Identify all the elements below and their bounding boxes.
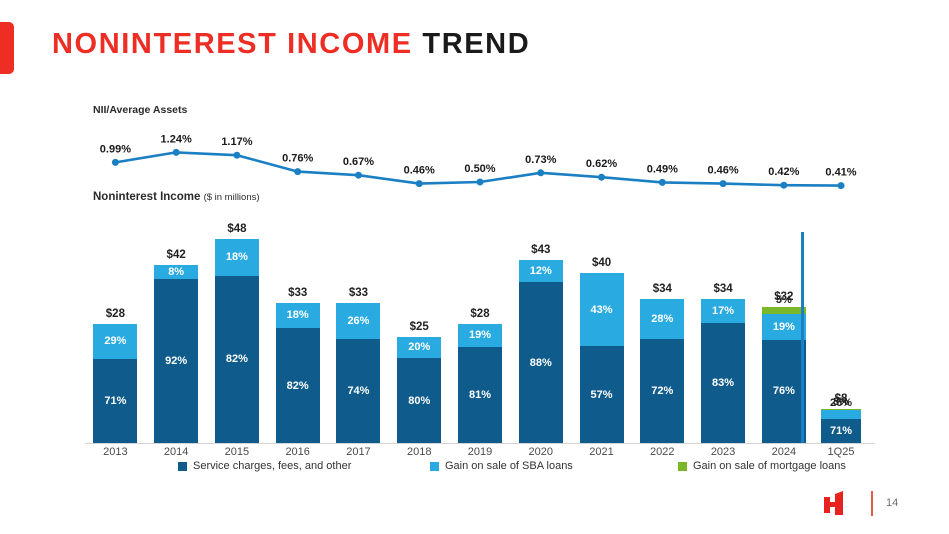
x-axis-tick-2021: 2021	[572, 446, 632, 458]
page-number: 14	[886, 497, 898, 509]
title-accent-bar	[0, 22, 14, 74]
legend-label: Gain on sale of SBA loans	[445, 460, 573, 472]
bar-segment-label: 82%	[287, 380, 309, 392]
bar-segment-label: 76%	[773, 385, 795, 397]
noninterest-income-bar-chart: $2829%71%$428%92%$4818%82%$3318%82%$3326…	[85, 215, 875, 443]
bar-segment: 18%	[276, 303, 320, 328]
bar-segment-label: 18%	[226, 251, 248, 263]
footer-separator	[871, 491, 873, 516]
legend-label: Service charges, fees, and other	[193, 460, 351, 472]
legend-item: Gain on sale of SBA loans	[430, 460, 573, 472]
page-title-primary: NONINTEREST INCOME	[52, 28, 413, 60]
legend-label: Gain on sale of mortgage loans	[693, 460, 846, 472]
line-data-point	[294, 168, 301, 175]
bar-segment-label: 29%	[104, 335, 126, 347]
bar-segment: 26%	[336, 303, 380, 339]
bar-column: $3326%74%	[336, 303, 380, 443]
bar-segment: 17%	[701, 299, 745, 324]
bar-segment: 81%	[458, 347, 502, 443]
bar-segment-label: 20%	[408, 341, 430, 353]
line-data-point	[112, 159, 119, 166]
bar-segment: 71%	[93, 359, 137, 443]
line-data-point	[416, 180, 423, 187]
line-data-point	[233, 152, 240, 159]
bar-column: $2819%81%	[458, 324, 502, 443]
bar-segment: 20%	[397, 337, 441, 358]
bar-column: $4043%57%	[580, 273, 624, 443]
line-data-point	[659, 179, 666, 186]
bar-segment-label: 83%	[712, 377, 734, 389]
bar-segment-label: 57%	[591, 389, 613, 401]
legend-swatch-icon	[178, 462, 187, 471]
bar-total-label: $43	[531, 244, 550, 256]
bar-total-label: $33	[349, 287, 368, 299]
line-point-label: 1.17%	[221, 136, 252, 148]
chart-legend: Service charges, fees, and otherGain on …	[178, 460, 798, 478]
bar-segment-label: 72%	[651, 385, 673, 397]
bar-segment-label: 82%	[226, 353, 248, 365]
bar-segment-label: 12%	[530, 265, 552, 277]
bar-segment-label: 74%	[347, 385, 369, 397]
bar-column: $3318%82%	[276, 303, 320, 443]
bar-segment: 19%	[458, 324, 502, 347]
bar-column: $4312%88%	[519, 260, 563, 443]
bar-total-label: $34	[713, 283, 732, 295]
line-data-point	[477, 179, 484, 186]
bar-column: $3417%83%	[701, 299, 745, 444]
bar-total-label: $25	[410, 321, 429, 333]
bar-total-label: $48	[227, 223, 246, 235]
x-axis-tick-2018: 2018	[389, 446, 449, 458]
bar-segment: 88%	[519, 282, 563, 443]
bar-column: $2829%71%	[93, 324, 137, 443]
bar-segment: 8%	[154, 265, 198, 279]
bar-segment-label: 26%	[347, 315, 369, 327]
bar-segment-label: 88%	[530, 357, 552, 369]
bar-total-label: $28	[470, 308, 489, 320]
bar-total-label: $40	[592, 257, 611, 269]
legend-swatch-icon	[430, 462, 439, 471]
bar-segment-label: 80%	[408, 395, 430, 407]
line-point-label: 0.42%	[768, 166, 799, 178]
bar-segment: 26%	[821, 410, 861, 419]
line-data-point	[780, 182, 787, 189]
bar-segment: 28%	[640, 299, 684, 339]
bar-total-label: $42	[167, 249, 186, 261]
bar-column: $2520%80%	[397, 337, 441, 443]
bar-segment: 5%	[762, 307, 806, 314]
bar-segment: 72%	[640, 339, 684, 443]
bar-segment: 18%	[215, 239, 259, 276]
bar-segment-label: 18%	[287, 309, 309, 321]
line-point-label: 0.73%	[525, 154, 556, 166]
quarter-divider-line	[801, 232, 804, 443]
bar-segment: 80%	[397, 358, 441, 443]
x-axis-tick-2023: 2023	[693, 446, 753, 458]
x-axis-tick-2013: 2013	[85, 446, 145, 458]
legend-item: Gain on sale of mortgage loans	[678, 460, 846, 472]
bar-column: $325%19%76%	[762, 307, 806, 443]
page-title-secondary: TREND	[422, 28, 530, 60]
bar-segment-label: 8%	[168, 266, 184, 278]
bar-segment: 92%	[154, 279, 198, 443]
bar-total-label: $34	[653, 283, 672, 295]
bar-segment-label: 17%	[712, 305, 734, 317]
bar-column: $83%26%71%	[821, 409, 861, 443]
x-axis-tick-2014: 2014	[146, 446, 206, 458]
line-point-label: 0.46%	[707, 165, 738, 177]
x-axis-tick-2015: 2015	[207, 446, 267, 458]
bar-segment: 71%	[821, 419, 861, 443]
bar-segment-label: 43%	[591, 304, 613, 316]
line-data-point	[173, 149, 180, 156]
x-axis-tick-2020: 2020	[511, 446, 571, 458]
line-chart-label: NII/Average Assets	[93, 104, 187, 116]
line-point-label: 0.50%	[464, 163, 495, 175]
line-point-label: 0.46%	[404, 165, 435, 177]
bar-segment-label: 92%	[165, 355, 187, 367]
bar-segment: 74%	[336, 339, 380, 443]
bar-segment: 82%	[215, 276, 259, 443]
page-title: NONINTEREST INCOME TREND	[52, 28, 530, 61]
bar-segment-label: 71%	[104, 395, 126, 407]
bar-segment-label: 19%	[469, 329, 491, 341]
bar-segment: 83%	[701, 323, 745, 443]
line-data-point	[537, 169, 544, 176]
bar-column: $428%92%	[154, 265, 198, 444]
line-data-point	[720, 180, 727, 187]
x-axis-tick-2016: 2016	[268, 446, 328, 458]
bar-chart-baseline	[85, 443, 875, 444]
line-point-label: 0.49%	[647, 163, 678, 175]
bar-segment: 19%	[762, 314, 806, 340]
line-point-label: 0.67%	[343, 156, 374, 168]
bar-segment-label: 26%	[830, 397, 852, 409]
bar-segment-label: 5%	[776, 294, 792, 306]
line-data-point	[355, 172, 362, 179]
bar-segment: 29%	[93, 324, 137, 359]
line-data-point	[598, 174, 605, 181]
bar-segment-label: 71%	[830, 425, 852, 437]
company-h-logo	[821, 491, 853, 517]
legend-item: Service charges, fees, and other	[178, 460, 351, 472]
x-axis-tick-2024: 2024	[754, 446, 814, 458]
bar-column: $3428%72%	[640, 299, 684, 444]
line-point-label: 0.76%	[282, 153, 313, 165]
bar-total-label: $28	[106, 308, 125, 320]
line-point-label: 0.99%	[100, 143, 131, 155]
bar-segment-label: 19%	[773, 321, 795, 333]
line-point-label: 0.62%	[586, 158, 617, 170]
line-point-label: 1.24%	[161, 133, 192, 145]
bar-segment: 57%	[580, 346, 624, 443]
bar-segment: 43%	[580, 273, 624, 346]
line-point-label: 0.41%	[825, 167, 856, 179]
bar-segment: 12%	[519, 260, 563, 282]
x-axis-tick-1Q25: 1Q25	[811, 446, 871, 458]
x-axis-tick-2022: 2022	[632, 446, 692, 458]
bar-segment-label: 81%	[469, 389, 491, 401]
bar-column: $4818%82%	[215, 239, 259, 443]
nii-average-assets-line-chart: 0.99%1.24%1.17%0.76%0.67%0.46%0.50%0.73%…	[0, 118, 949, 200]
line-data-point	[838, 182, 845, 189]
bar-segment-label: 28%	[651, 313, 673, 325]
bar-total-label: $33	[288, 287, 307, 299]
x-axis-tick-2019: 2019	[450, 446, 510, 458]
legend-swatch-icon	[678, 462, 687, 471]
bar-segment: 82%	[276, 328, 320, 443]
bar-segment: 76%	[762, 340, 806, 443]
x-axis-tick-2017: 2017	[328, 446, 388, 458]
